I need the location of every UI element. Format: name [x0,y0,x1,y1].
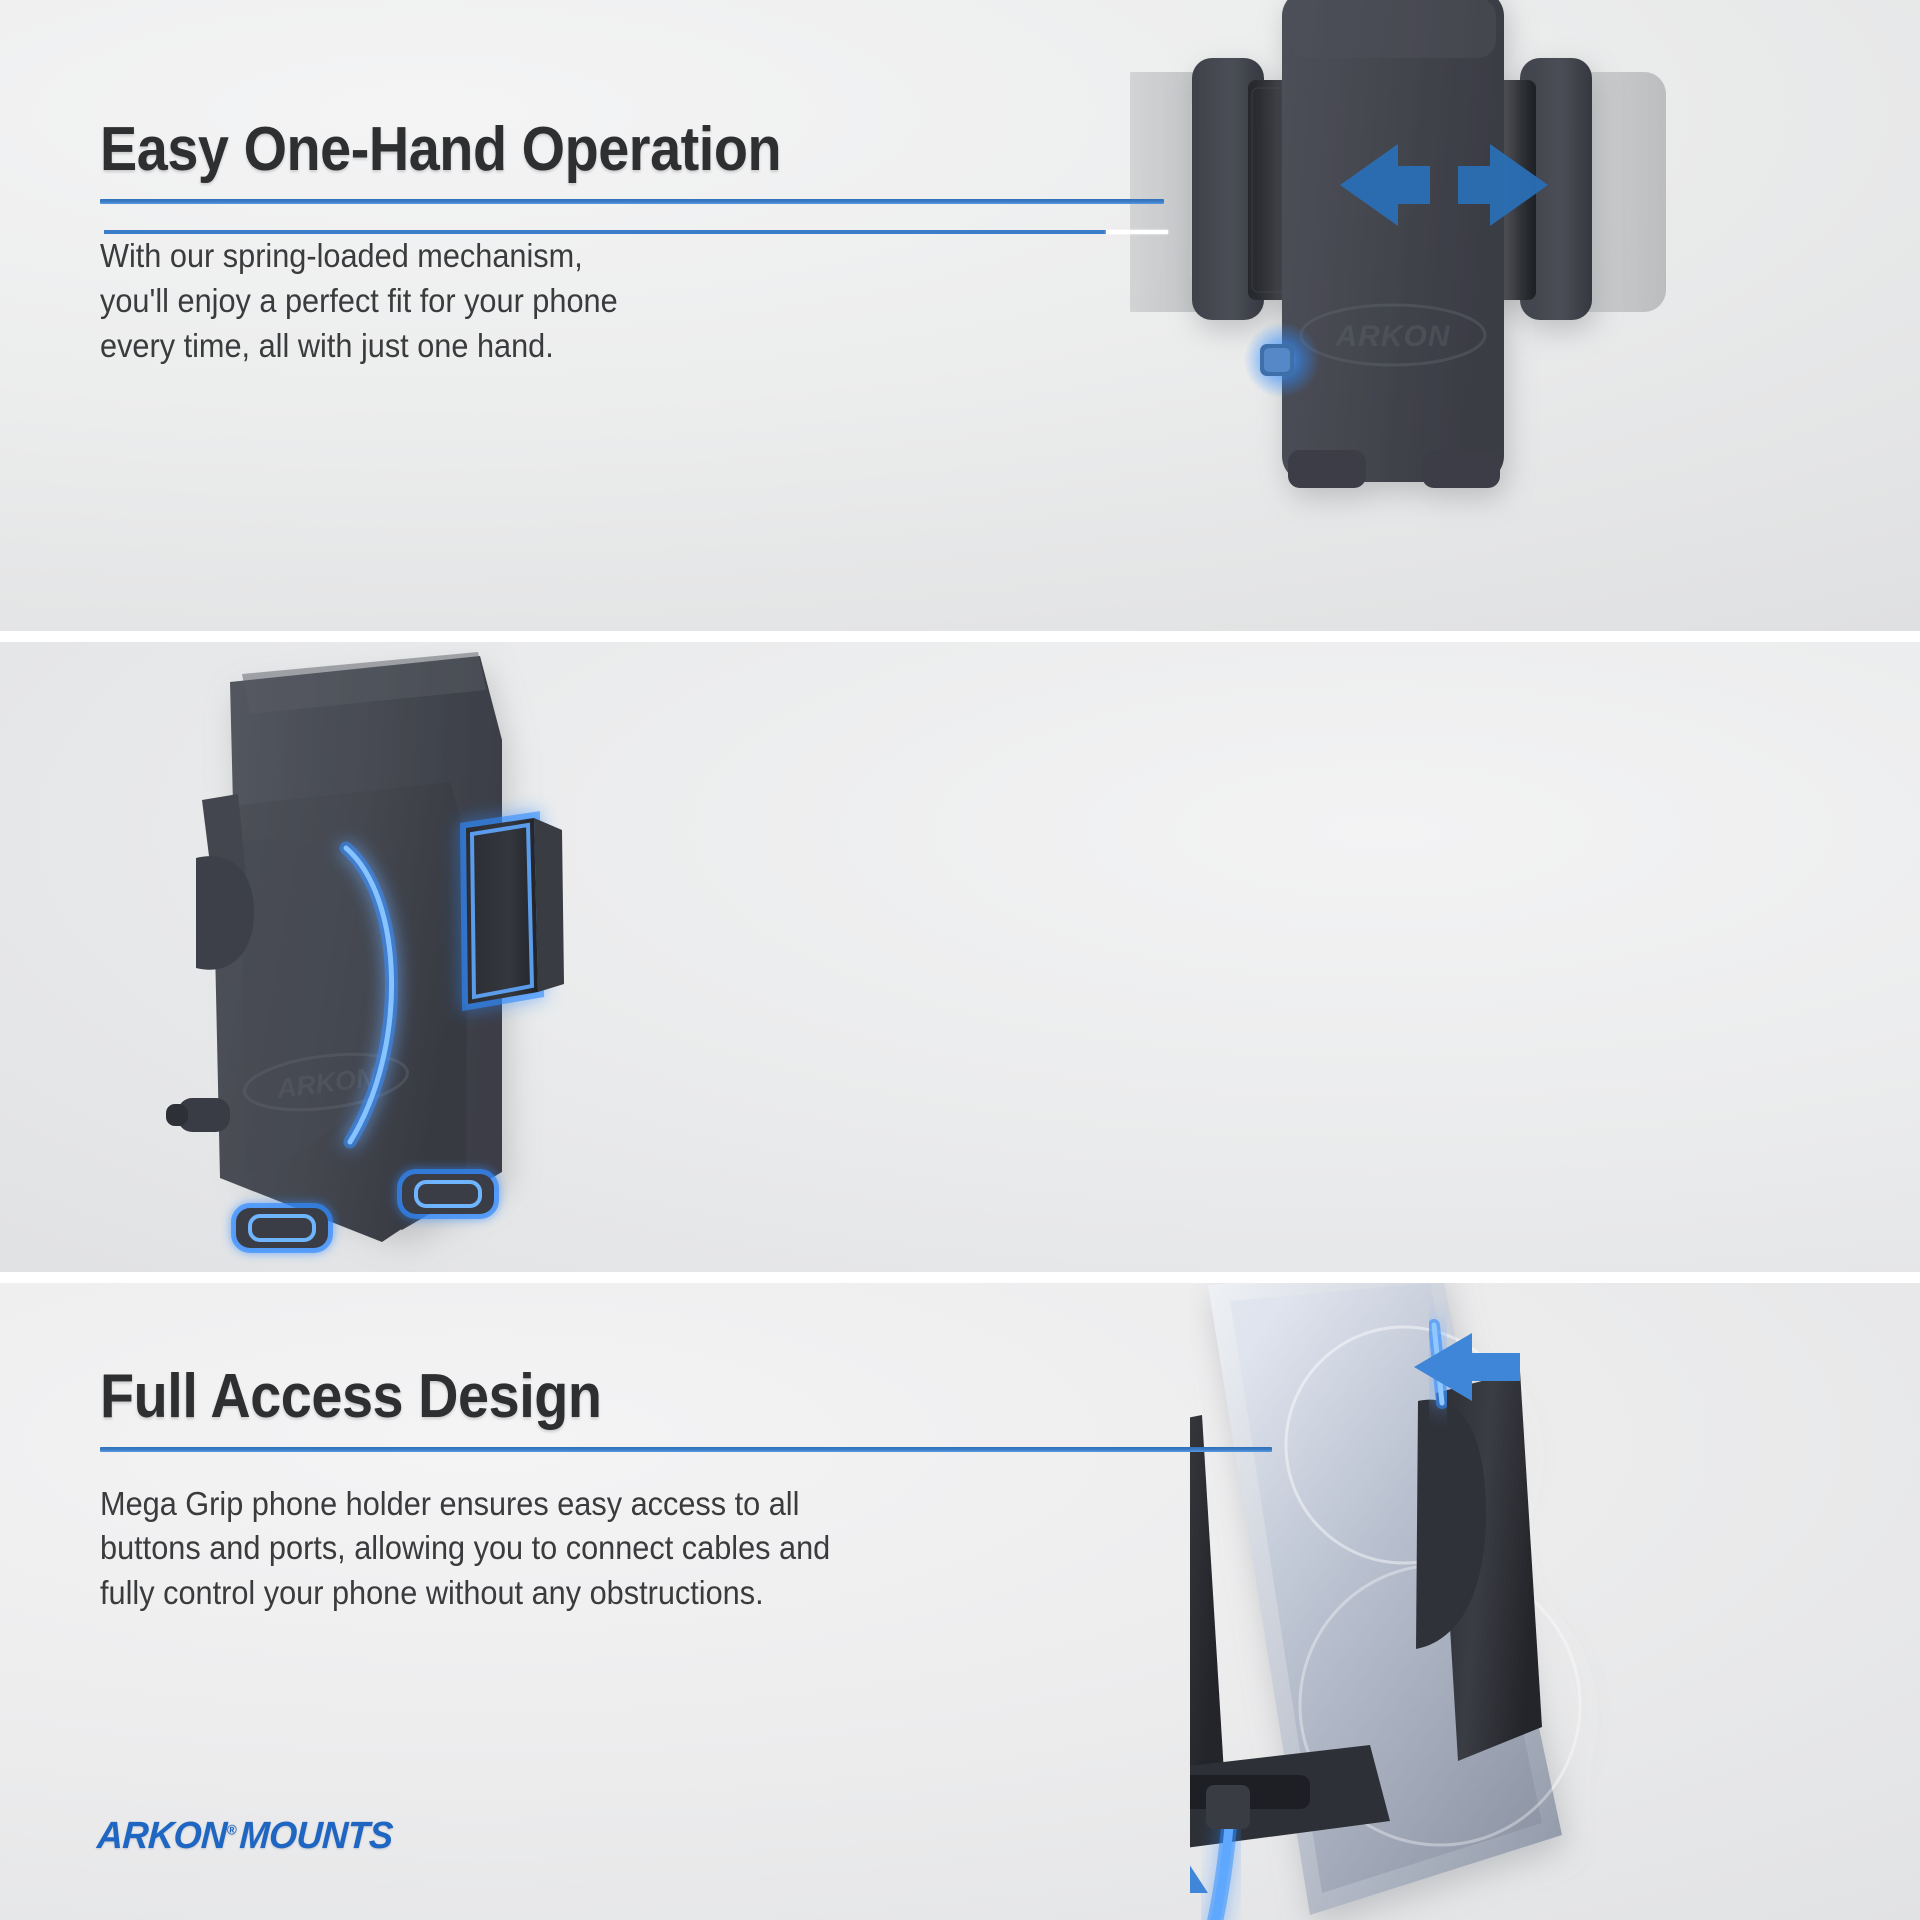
holder-front-plate: ARKON [212,782,468,1242]
embossed-arkon-logo: ARKON [241,1046,410,1118]
panel-3-body-line-2: buttons and ports, allowing you to conne… [100,1526,1190,1571]
panel-divider-2 [0,1272,1920,1283]
panel-1-text-block: Easy One-Hand Operation With our spring-… [100,118,1120,369]
embossed-arkon-logo: ARKON [1301,305,1485,365]
svg-text:ARKON: ARKON [274,1062,377,1104]
release-button [1244,322,1320,398]
panel-1-body-line-2: you'll enjoy a perfect fit for your phon… [100,279,1049,324]
svg-text:ARKON: ARKON [1335,320,1451,353]
product-image-mega-grip-angled-view: ARKON [150,642,790,1273]
holder-body: ARKON [1282,0,1504,488]
right-grip-pad [466,818,564,1004]
panel-3-body-line-3: fully control your phone without any obs… [100,1571,1190,1616]
panel-3-body: Mega Grip phone holder ensures easy acce… [100,1482,1190,1617]
glowing-foot-tab-left [236,1208,328,1248]
panel-1-heading: Easy One-Hand Operation [100,118,1018,181]
brand-logo-mounts: MOUNTS [239,1815,394,1857]
feature-panel-easy-one-hand-operation: ARKON [0,0,1920,631]
panel-3-heading: Full Access Design [100,1365,1155,1428]
exposed-charging-port-base [1190,1745,1390,1855]
feature-panel-padded-secure-grip: ARKON [0,642,1920,1273]
right-grip-arm [1480,58,1592,320]
expand-arrow-right [1458,144,1548,226]
ghost-expanded-arms [1130,72,1666,312]
left-grip-arm [1192,58,1304,320]
feature-panel-full-access-design: Full Access Design Mega Grip phone holde… [0,1283,1920,1920]
brand-logo-arkon: ARKON [96,1815,228,1857]
leader-line-easy-one-hand [104,230,1168,234]
panel-1-body: With our spring-loaded mechanism, you'll… [100,234,1049,369]
glow-edge-top-right [1434,1325,1442,1403]
panel-3-accent-rule [100,1447,1272,1452]
product-image-mega-grip-with-phone [1190,1283,1920,1920]
expand-arrow-left [1340,144,1430,226]
brand-logo-arkon-mounts: ARKON®MOUNTS [96,1815,394,1858]
upper-grip-hook [196,794,254,970]
panel-divider-1 [0,631,1920,642]
access-arrow-top-right [1414,1333,1520,1401]
product-feature-infographic: ARKON [0,0,1920,1920]
panel-3-body-line-1: Mega Grip phone holder ensures easy acce… [100,1482,1190,1527]
panel-1-body-line-3: every time, all with just one hand. [100,324,1049,369]
side-release-knob [166,1098,230,1132]
holder-back-plate [230,652,502,1230]
product-image-mega-grip-front-view: ARKON [1130,0,1920,631]
glowing-foot-tab-right [402,1174,494,1214]
charging-cable [1206,1785,1250,1920]
panel-1-accent-rule [100,199,1164,204]
leader-segment-blue [104,230,1106,234]
leader-segment-white [1106,230,1168,234]
holder-clamp-right [1416,1371,1542,1761]
panel-3-text-block: Full Access Design Mega Grip phone holde… [100,1365,1272,1616]
registered-trademark-icon: ® [227,1821,237,1837]
panel-1-body-line-1: With our spring-loaded mechanism, [100,234,1049,279]
glow-scoop-highlight [346,848,392,1142]
access-arrow-bottom [1190,1835,1208,1920]
